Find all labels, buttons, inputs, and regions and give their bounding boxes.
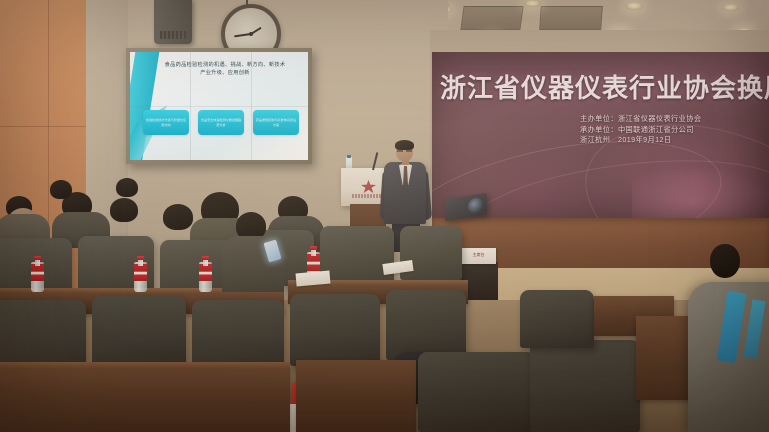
audience-head xyxy=(50,180,72,199)
auditorium-seat xyxy=(92,296,186,368)
auditorium-seat xyxy=(418,352,536,432)
downlight xyxy=(625,2,643,10)
banner-organizer: 主办单位：浙江省仪器仪表行业协会 xyxy=(580,114,769,125)
slide-box: 检验检测技术升级与智能化应用方向 xyxy=(143,110,189,135)
auditorium-seat xyxy=(530,340,640,432)
auditorium-seat xyxy=(320,226,394,284)
ceiling-panel xyxy=(539,6,603,30)
auditorium-seat xyxy=(386,290,466,360)
slide-box: 药品质量控制与标准体系建设方案 xyxy=(253,110,299,135)
audience-head xyxy=(163,204,193,230)
water-bottle-icon xyxy=(199,256,212,292)
banner-headline: 浙江省仪器仪表行业协会换届暨智 xyxy=(440,74,769,102)
audience-head xyxy=(710,244,740,278)
slide-box-text: 药品质量控制与标准体系建设方案 xyxy=(255,118,297,126)
banner-subtext: 主办单位：浙江省仪器仪表行业协会 承办单位：中国联通浙江省分公司 浙江杭州 20… xyxy=(580,114,769,146)
audience-head xyxy=(116,178,138,197)
conference-photo-scene: 食品药品检验检测的机遇、挑战、新方向、新技术 产业升级、应用创新 检验检测技术升… xyxy=(0,0,769,432)
downlight xyxy=(722,4,739,11)
audience-desk xyxy=(296,360,416,432)
glasses-icon xyxy=(397,149,412,152)
water-bottle-icon xyxy=(31,256,44,292)
banner-cohost: 承办单位：中国联通浙江省分公司 xyxy=(580,125,769,136)
desk-edge xyxy=(0,362,290,369)
slide-canvas: 食品药品检验检测的机遇、挑战、新方向、新技术 产业升级、应用创新 检验检测技术升… xyxy=(130,52,308,160)
slide-box: 食品安全快速检测仪器发展趋势分析 xyxy=(198,110,244,135)
auditorium-seat xyxy=(520,290,594,348)
slide-box-text: 食品安全快速检测仪器发展趋势分析 xyxy=(200,118,242,126)
audience-head xyxy=(110,198,138,222)
slide-box-row: 检验检测技术升级与智能化应用方向 食品安全快速检测仪器发展趋势分析 药品质量控制… xyxy=(143,110,299,135)
slide-title-line-2: 产业升级、应用创新 xyxy=(152,69,298,77)
bottle-cap xyxy=(347,155,351,158)
water-bottle-icon xyxy=(134,256,147,292)
auditorium-seat xyxy=(290,294,380,366)
audience-desk xyxy=(0,366,290,432)
ceiling-panel xyxy=(460,6,523,30)
auditorium-seat xyxy=(400,226,462,280)
name-card-text: 主席台 xyxy=(464,252,493,257)
slide-title-line-1: 食品药品检验检测的机遇、挑战、新方向、新技术 xyxy=(152,61,298,69)
banner-place-date: 浙江杭州 2019年9月12日 xyxy=(580,135,769,146)
downlight xyxy=(524,0,541,7)
wall-speaker-icon xyxy=(154,0,192,44)
slide-box-text: 检验检测技术升级与智能化应用方向 xyxy=(145,118,187,126)
projection-screen: 食品药品检验检测的机遇、挑战、新方向、新技术 产业升级、应用创新 检验检测技术升… xyxy=(126,48,312,164)
